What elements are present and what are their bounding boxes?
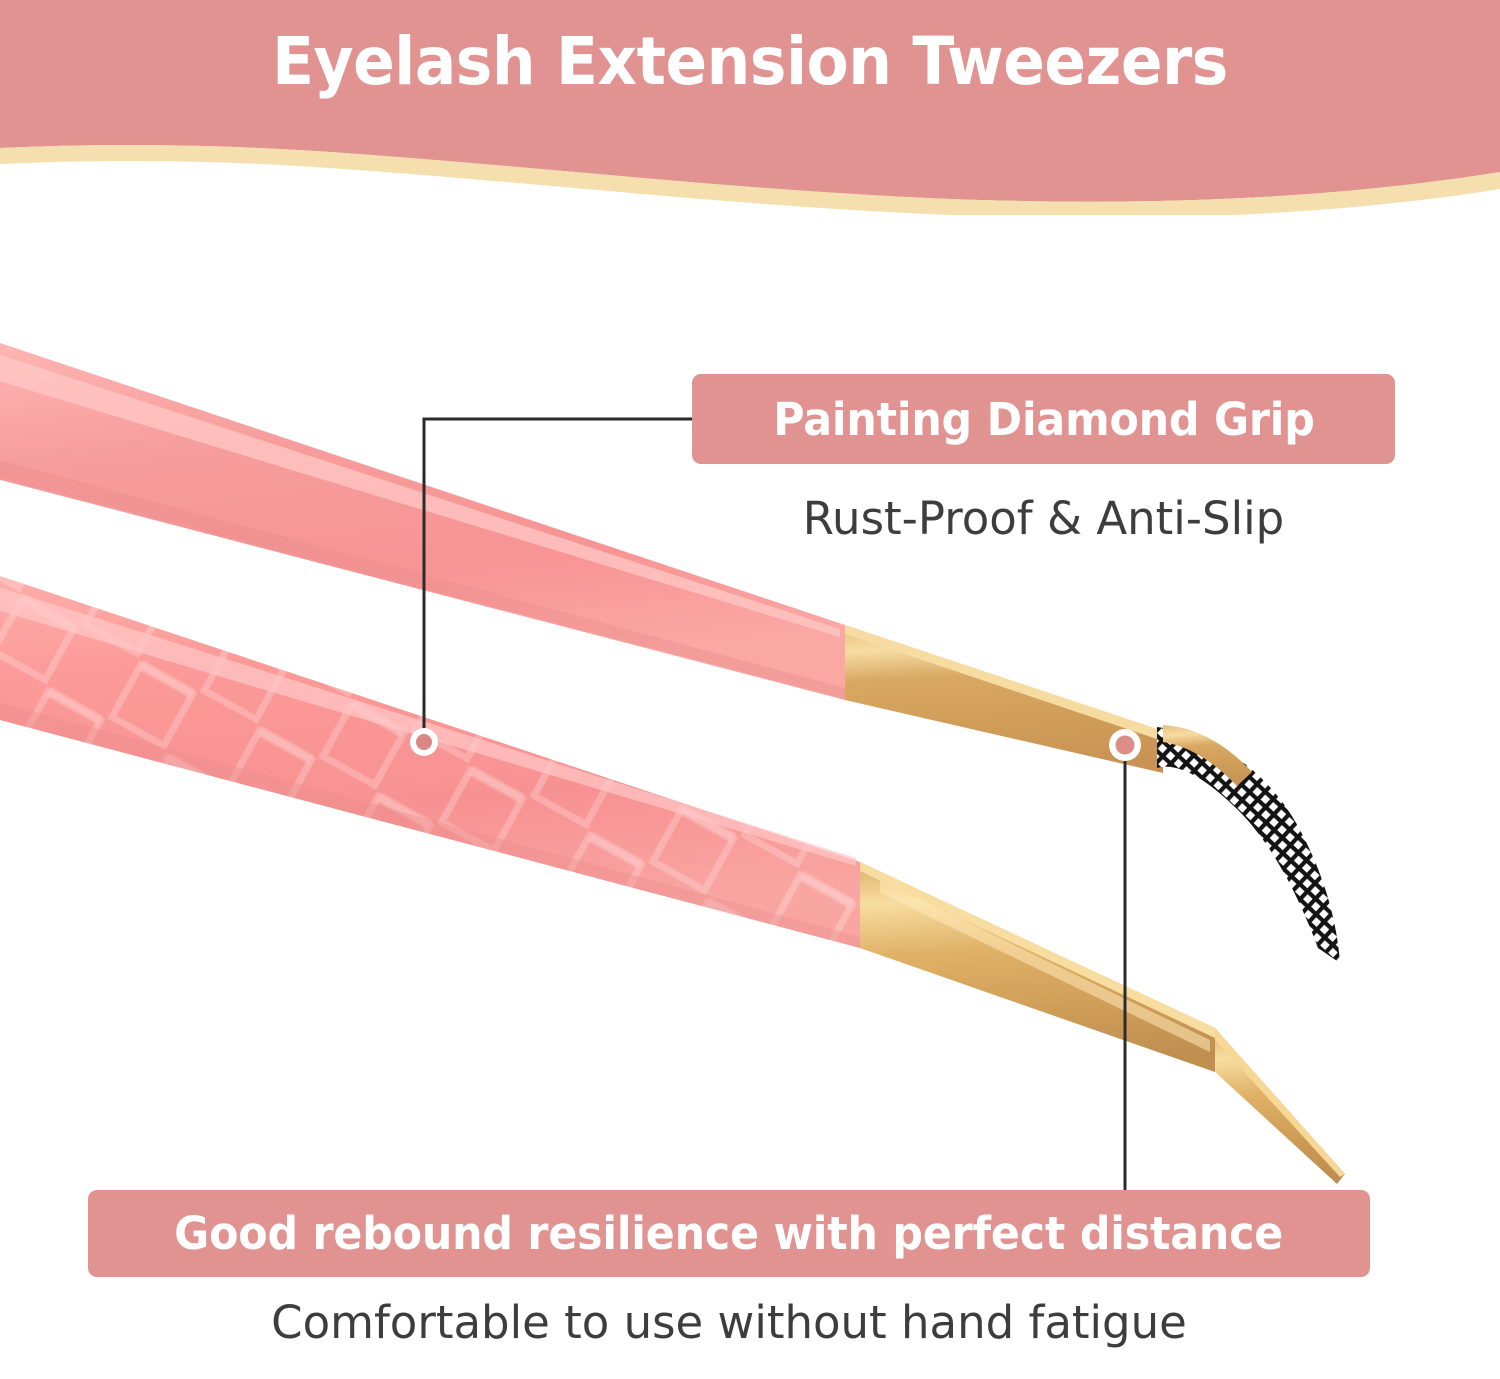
- callout-subcaption-grip: Rust-Proof & Anti-Slip: [692, 492, 1395, 545]
- callout-subcaption-rebound: Comfortable to use without hand fatigue: [88, 1296, 1370, 1349]
- header-band: Eyelash Extension Tweezers: [0, 0, 1500, 215]
- callout-badge-rebound: Good rebound resilience with perfect dis…: [88, 1190, 1370, 1277]
- callout-badge-grip: Painting Diamond Grip: [692, 374, 1395, 464]
- callout-badge-grip-label: Painting Diamond Grip: [773, 393, 1314, 446]
- callout-badge-rebound-label: Good rebound resilience with perfect dis…: [175, 1207, 1284, 1260]
- product-infographic: Eyelash Extension Tweezers: [0, 0, 1500, 1379]
- page-title: Eyelash Extension Tweezers: [53, 26, 1448, 99]
